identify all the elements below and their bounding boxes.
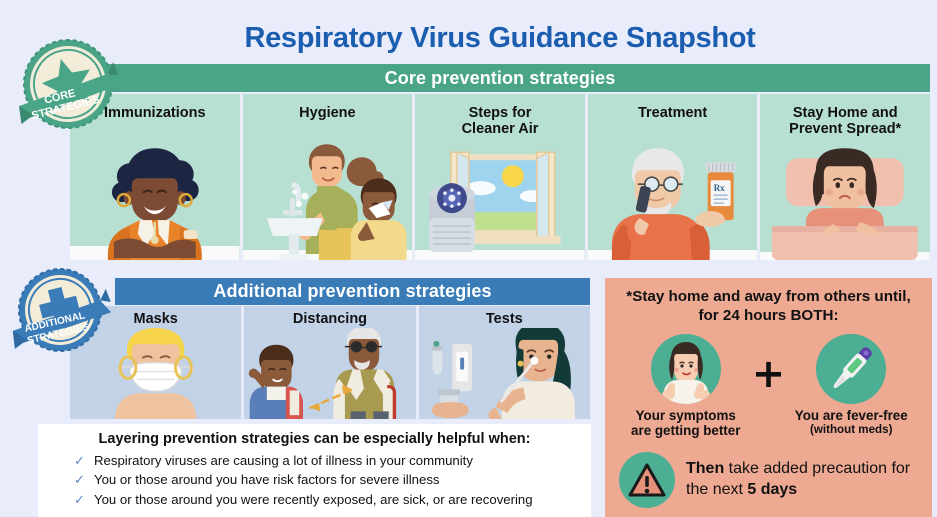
additional-label-distancing: Distancing [293,311,367,327]
stay-home-heading-line1: *Stay home and away from others until, [626,288,910,305]
stay-home-conditions: Your symptoms are getting better + [605,334,932,439]
list-item: ✓ You or those around you have risk fact… [74,472,591,489]
stay-home-heading: *Stay home and away from others until, f… [605,288,932,326]
warning-triangle-icon [619,452,675,508]
thermometer-icon [816,334,886,404]
open-window-air-purifier-icon [415,134,585,260]
list-item-label: Respiratory viruses are causing a lot of… [94,453,473,470]
condition-symptoms: Your symptoms are getting better [624,334,748,439]
plus-icon: + [752,354,786,394]
additional-section-header: Additional prevention strategies [115,278,590,305]
stay-home-footer: Then take added precaution for the next … [619,452,932,508]
check-mark-icon: ✓ [74,472,94,488]
list-item: ✓ Respiratory viruses are causing a lot … [74,453,591,470]
condition-symptoms-line2: are getting better [631,423,740,438]
core-label-stay-home-line2: Prevent Spread* [789,121,901,137]
condition-symptoms-line1: Your symptoms [636,408,736,423]
page-title: Respiratory Virus Guidance Snapshot [70,22,930,55]
condition-fever-free-sub: (without meds) [795,423,908,436]
person-in-bed-icon [760,134,930,260]
additional-section-header-label: Additional prevention strategies [213,281,491,302]
core-label-stay-home-line1: Stay Home and [793,105,898,121]
additional-strategies-grid: Masks [70,306,590,419]
thumbs-up-person-icon [651,334,721,404]
stay-home-heading-line2: for 24 hours BOTH: [698,307,838,324]
core-section-header-label: Core prevention strategies [385,68,616,89]
older-man-phone-pill-bottle-icon: Rx [588,134,758,260]
additional-label-masks: Masks [133,311,177,327]
core-cell-hygiene[interactable]: Hygiene [243,94,413,260]
core-label-treatment: Treatment [638,105,707,121]
additional-cell-tests[interactable]: Tests [419,306,590,419]
additional-cell-distancing[interactable]: Distancing [244,306,415,419]
additional-strategies-badge: ADDITIONAL STRATEGIES [10,266,114,360]
core-cell-cleaner-air[interactable]: Steps for Cleaner Air [415,94,585,260]
condition-fever-free: You are fever-free (without meds) [789,334,913,437]
list-item-label: You or those around you have risk factor… [94,472,440,489]
core-strategies-grid: Immunizations [70,94,930,260]
svg-text:Rx: Rx [713,183,724,193]
handwashing-icon [243,134,413,260]
footer-bold-then: Then [686,460,724,477]
check-mark-icon: ✓ [74,492,94,508]
check-mark-icon: ✓ [74,453,94,469]
core-cell-treatment[interactable]: Treatment [588,94,758,260]
core-label-cleaner-air: Steps for Cleaner Air [462,105,539,138]
layering-bullet-list: ✓ Respiratory viruses are causing a lot … [38,453,591,509]
vaccinated-woman-icon [70,134,240,260]
stay-home-footer-text: Then take added precaution for the next … [686,459,922,500]
condition-fever-free-label: You are fever-free (without meds) [795,408,908,437]
stay-home-panel: *Stay home and away from others until, f… [605,278,932,517]
core-section-header: Core prevention strategies [70,64,930,92]
layering-heading: Layering prevention strategies can be es… [38,432,591,448]
core-label-stay-home: Stay Home and Prevent Spread* [789,105,901,138]
nasal-swab-test-icon [419,328,590,419]
layering-panel: Layering prevention strategies can be es… [38,424,591,517]
list-item-label: You or those around you were recently ex… [94,492,533,509]
condition-symptoms-label: Your symptoms are getting better [631,408,740,439]
condition-fever-free-line1: You are fever-free [795,408,908,423]
two-people-distance-arrow-icon [244,328,415,419]
core-strategies-badge: CORE STRATEGIES [14,36,122,140]
core-label-cleaner-air-line2: Cleaner Air [462,121,539,137]
footer-bold-days: 5 days [747,481,797,498]
core-label-immunizations: Immunizations [104,105,206,121]
infographic-page: Respiratory Virus Guidance Snapshot Core… [0,0,937,517]
list-item: ✓ You or those around you were recently … [74,492,591,509]
core-label-hygiene: Hygiene [299,105,355,121]
core-cell-stay-home[interactable]: Stay Home and Prevent Spread* [760,94,930,260]
core-label-cleaner-air-line1: Steps for [469,105,532,121]
additional-label-tests: Tests [486,311,523,327]
